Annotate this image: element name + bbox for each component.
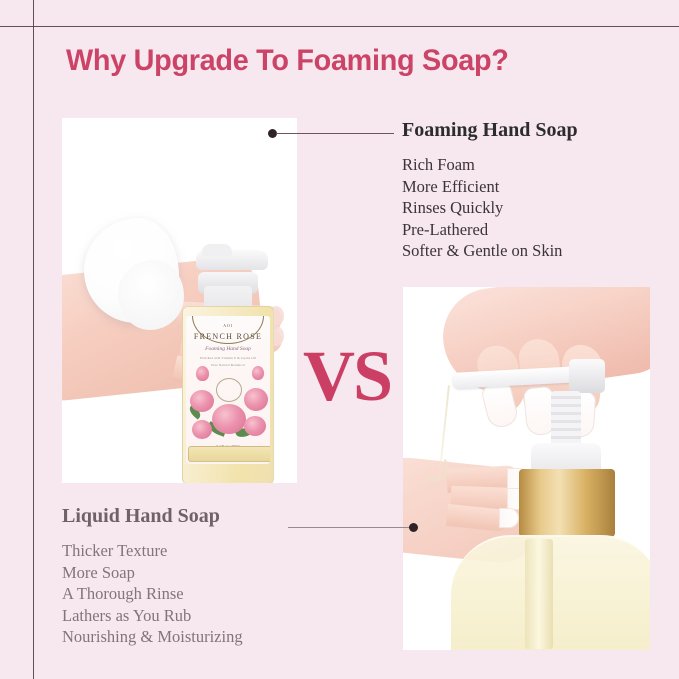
pump-head-shape [196,250,268,270]
product-label: AOI FRENCH ROSE Foaming Hand Soap Enrich… [186,316,270,464]
fingernail-shape [499,508,519,528]
soap-drip-shape [423,455,449,481]
label-top-line: AOI [186,323,270,328]
frame-line-horizontal [0,26,679,27]
liquid-heading: Liquid Hand Soap [62,505,362,528]
list-item: Rich Foam [402,154,674,176]
rose-shape [212,404,246,434]
rose-shape [244,388,268,411]
pump-head-shape [569,359,605,393]
pump-dip-tube-shape [525,539,553,649]
foaming-soap-bottle: AOI FRENCH ROSE Foaming Hand Soap Enrich… [182,246,274,483]
liquid-soap-text-block: Liquid Hand Soap Thicker Texture More So… [62,505,362,648]
label-fine-print-1: Enriched with Vitamin E & Jojoba Oil [186,356,270,360]
list-item: Pre-Lathered [402,219,674,241]
list-item: Nourishing & Moisturizing [62,626,362,648]
list-item: More Soap [62,562,362,584]
liquid-soap-photo [403,287,650,650]
versus-label: VS [303,340,391,412]
list-item: Softer & Gentle on Skin [402,240,674,262]
rose-shape [244,416,266,436]
foaming-soap-text-block: Foaming Hand Soap Rich Foam More Efficie… [402,119,674,262]
rose-shape [192,420,212,439]
label-bottom-band [188,446,270,462]
foaming-heading: Foaming Hand Soap [402,119,674,142]
rose-shape [190,390,214,412]
gold-collar-shape [519,469,615,537]
label-brand-name: FRENCH ROSE [186,332,270,341]
liquid-benefit-list: Thicker Texture More Soap A Thorough Rin… [62,540,362,648]
foaming-benefit-list: Rich Foam More Efficient Rinses Quickly … [402,154,674,262]
callout-line-foaming [276,133,394,134]
foam-blob-shape [118,260,184,330]
pump-stem-shape [551,391,581,447]
callout-dot-liquid [409,523,418,532]
rose-bud-shape [252,366,264,380]
label-subtitle: Foaming Hand Soap [186,346,270,352]
list-item: More Efficient [402,176,674,198]
foaming-soap-photo: AOI FRENCH ROSE Foaming Hand Soap Enrich… [62,118,297,483]
rose-outline-shape [216,378,242,402]
frame-line-vertical [33,0,34,679]
list-item: Rinses Quickly [402,197,674,219]
rose-bud-shape [196,366,209,381]
list-item: Thicker Texture [62,540,362,562]
list-item: Lathers as You Rub [62,605,362,627]
list-item: A Thorough Rinse [62,583,362,605]
page-title: Why Upgrade To Foaming Soap? [66,44,509,78]
